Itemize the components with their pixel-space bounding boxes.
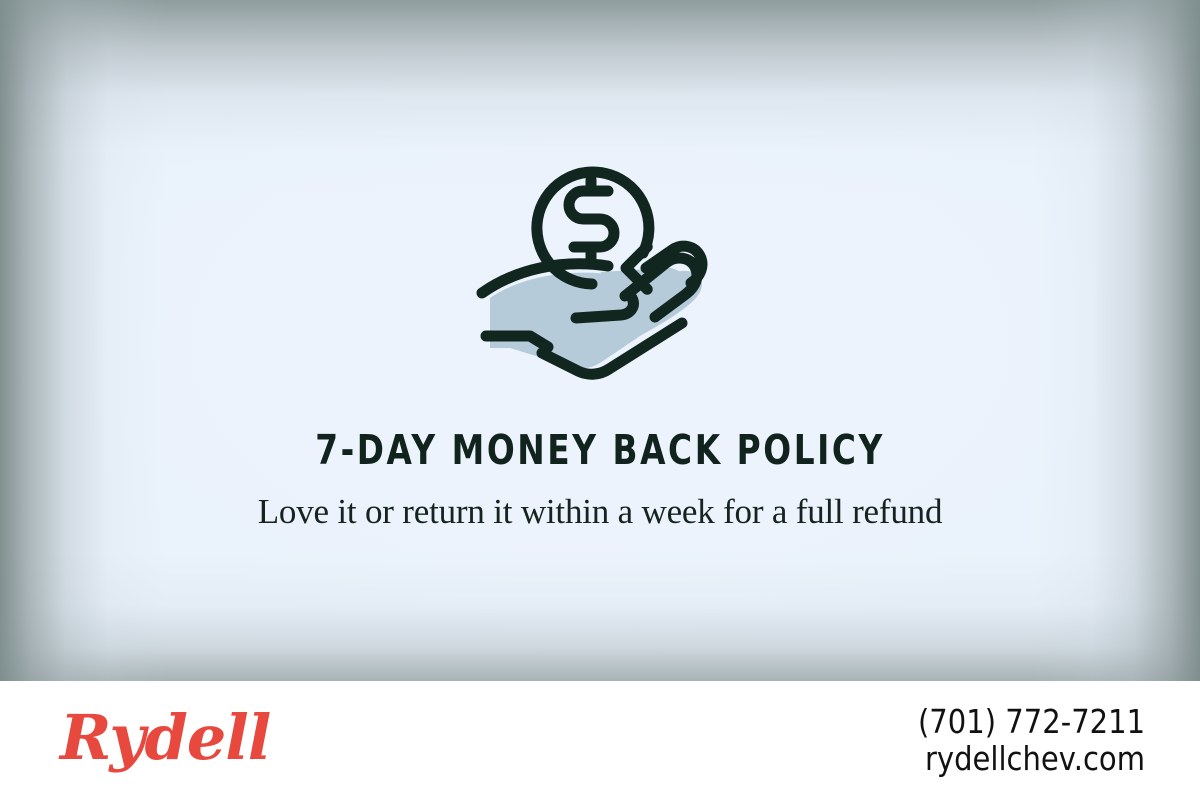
website-url[interactable]: rydellchev.com [925, 741, 1145, 778]
rydell-logo[interactable]: Rydell [60, 707, 270, 769]
hero-content: 7-DAY MONEY BACK POLICY Love it or retur… [0, 0, 1200, 681]
dollar-sign-icon [569, 180, 614, 258]
promo-subhead: Love it or return it within a week for a… [250, 489, 950, 535]
promo-hero: 7-DAY MONEY BACK POLICY Love it or retur… [0, 0, 1200, 681]
money-back-hand-icon-svg [450, 150, 750, 400]
phone-number[interactable]: (701) 772-7211 [918, 704, 1145, 741]
money-back-hand-icon [450, 150, 750, 400]
promo-headline: 7-DAY MONEY BACK POLICY [315, 430, 885, 471]
footer-bar: Rydell (701) 772-7211 rydellchev.com [0, 681, 1200, 800]
promo-card: 7-DAY MONEY BACK POLICY Love it or retur… [0, 0, 1200, 800]
contact-block: (701) 772-7211 rydellchev.com [887, 704, 1145, 778]
